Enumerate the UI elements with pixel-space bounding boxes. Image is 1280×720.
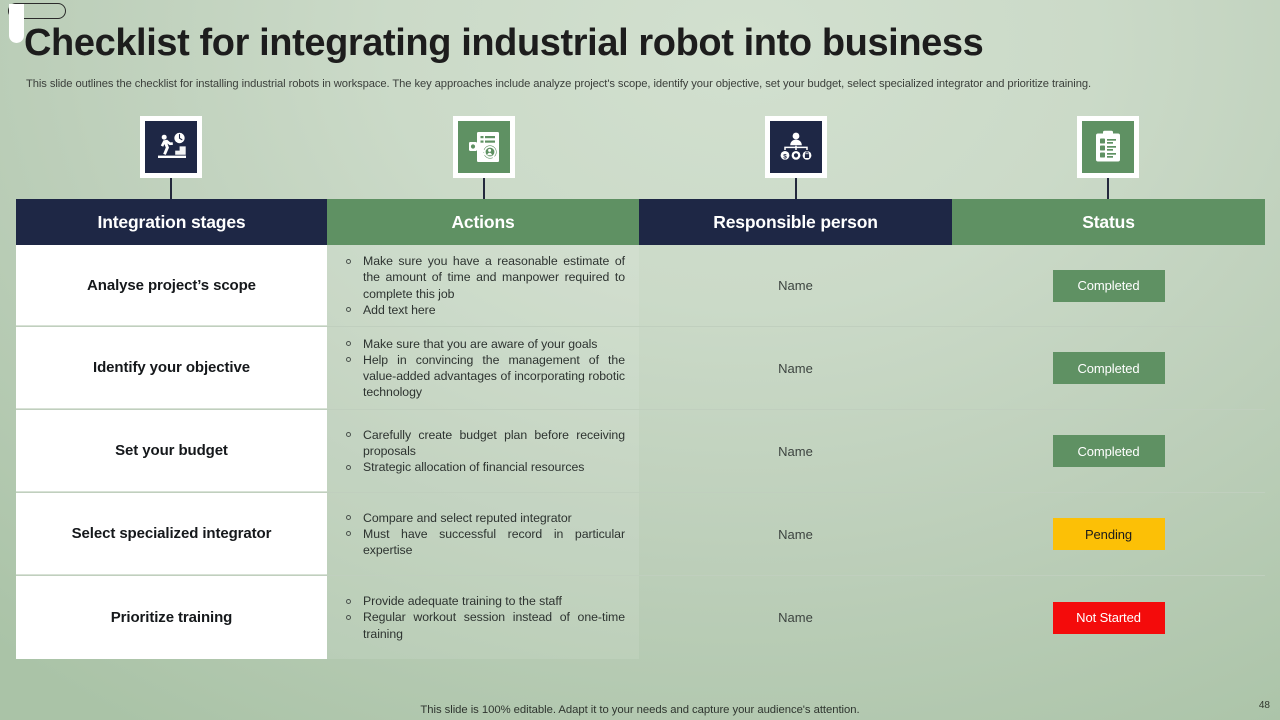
slide-canvas: Checklist for integrating industrial rob… [0,0,1280,720]
icon-badge-integration-stages [140,116,202,178]
cell-status: Completed [952,327,1265,409]
status-badge[interactable]: Completed [1053,435,1165,467]
action-item: Provide adequate training to the staff [345,593,625,609]
connector-line-1 [170,178,172,199]
cell-status: Pending [952,493,1265,575]
cell-responsible-person: Name [639,410,952,492]
table-row: Identify your objectiveMake sure that yo… [16,327,1265,410]
cell-integration-stage: Analyse project’s scope [16,245,327,326]
table-header-row: Integration stages Actions Responsible p… [16,199,1265,245]
action-item: Carefully create budget plan before rece… [345,427,625,459]
document-analysis-icon [458,121,510,173]
page-subtitle: This slide outlines the checklist for in… [26,78,1091,90]
icon-badge-actions [453,116,515,178]
action-item: Must have successful record in particula… [345,526,625,558]
cell-actions: Make sure that you are aware of your goa… [327,327,639,409]
column-header-integration-stages: Integration stages [16,199,327,245]
cell-integration-stage: Prioritize training [16,576,327,659]
page-title: Checklist for integrating industrial rob… [24,22,983,65]
org-chart-person-icon: $ [770,121,822,173]
cell-status: Not Started [952,576,1265,659]
column-header-actions: Actions [327,199,639,245]
cell-status: Completed [952,245,1265,326]
table-row: Set your budgetCarefully create budget p… [16,410,1265,493]
table-body: Analyse project’s scopeMake sure you hav… [16,245,1265,659]
action-item: Make sure that you are aware of your goa… [345,336,625,352]
page-number: 48 [1259,700,1270,711]
status-badge[interactable]: Completed [1053,270,1165,302]
cell-status: Completed [952,410,1265,492]
table-row: Prioritize trainingProvide adequate trai… [16,576,1265,659]
cell-integration-stage: Select specialized integrator [16,493,327,575]
person-stairs-clock-icon [145,121,197,173]
table-row: Analyse project’s scopeMake sure you hav… [16,245,1265,327]
column-header-status: Status [952,199,1265,245]
connector-line-3 [795,178,797,199]
action-item: Compare and select reputed integrator [345,510,625,526]
cell-responsible-person: Name [639,493,952,575]
cell-actions: Carefully create budget plan before rece… [327,410,639,492]
action-item: Regular workout session instead of one-t… [345,609,625,641]
cell-actions: Compare and select reputed integratorMus… [327,493,639,575]
cell-integration-stage: Set your budget [16,410,327,492]
footer-note: This slide is 100% editable. Adapt it to… [0,704,1280,716]
icon-badge-status [1077,116,1139,178]
status-badge[interactable]: Pending [1053,518,1165,550]
connector-line-4 [1107,178,1109,199]
clipboard-checklist-icon [1082,121,1134,173]
cell-responsible-person: Name [639,576,952,659]
icon-badge-responsible-person: $ [765,116,827,178]
cell-actions: Make sure you have a reasonable estimate… [327,245,639,326]
action-item: Help in convincing the management of the… [345,352,625,401]
action-item: Strategic allocation of financial resour… [345,459,625,475]
cell-responsible-person: Name [639,327,952,409]
checklist-table: Integration stages Actions Responsible p… [16,199,1265,659]
action-item: Make sure you have a reasonable estimate… [345,253,625,302]
table-row: Select specialized integratorCompare and… [16,493,1265,576]
cell-integration-stage: Identify your objective [16,327,327,409]
status-badge[interactable]: Not Started [1053,602,1165,634]
svg-text:$: $ [783,153,787,160]
connector-line-2 [483,178,485,199]
cell-responsible-person: Name [639,245,952,326]
column-header-responsible-person: Responsible person [639,199,952,245]
action-item: Add text here [345,302,625,318]
status-badge[interactable]: Completed [1053,352,1165,384]
cell-actions: Provide adequate training to the staffRe… [327,576,639,659]
decorative-vertical-bar [9,9,24,43]
